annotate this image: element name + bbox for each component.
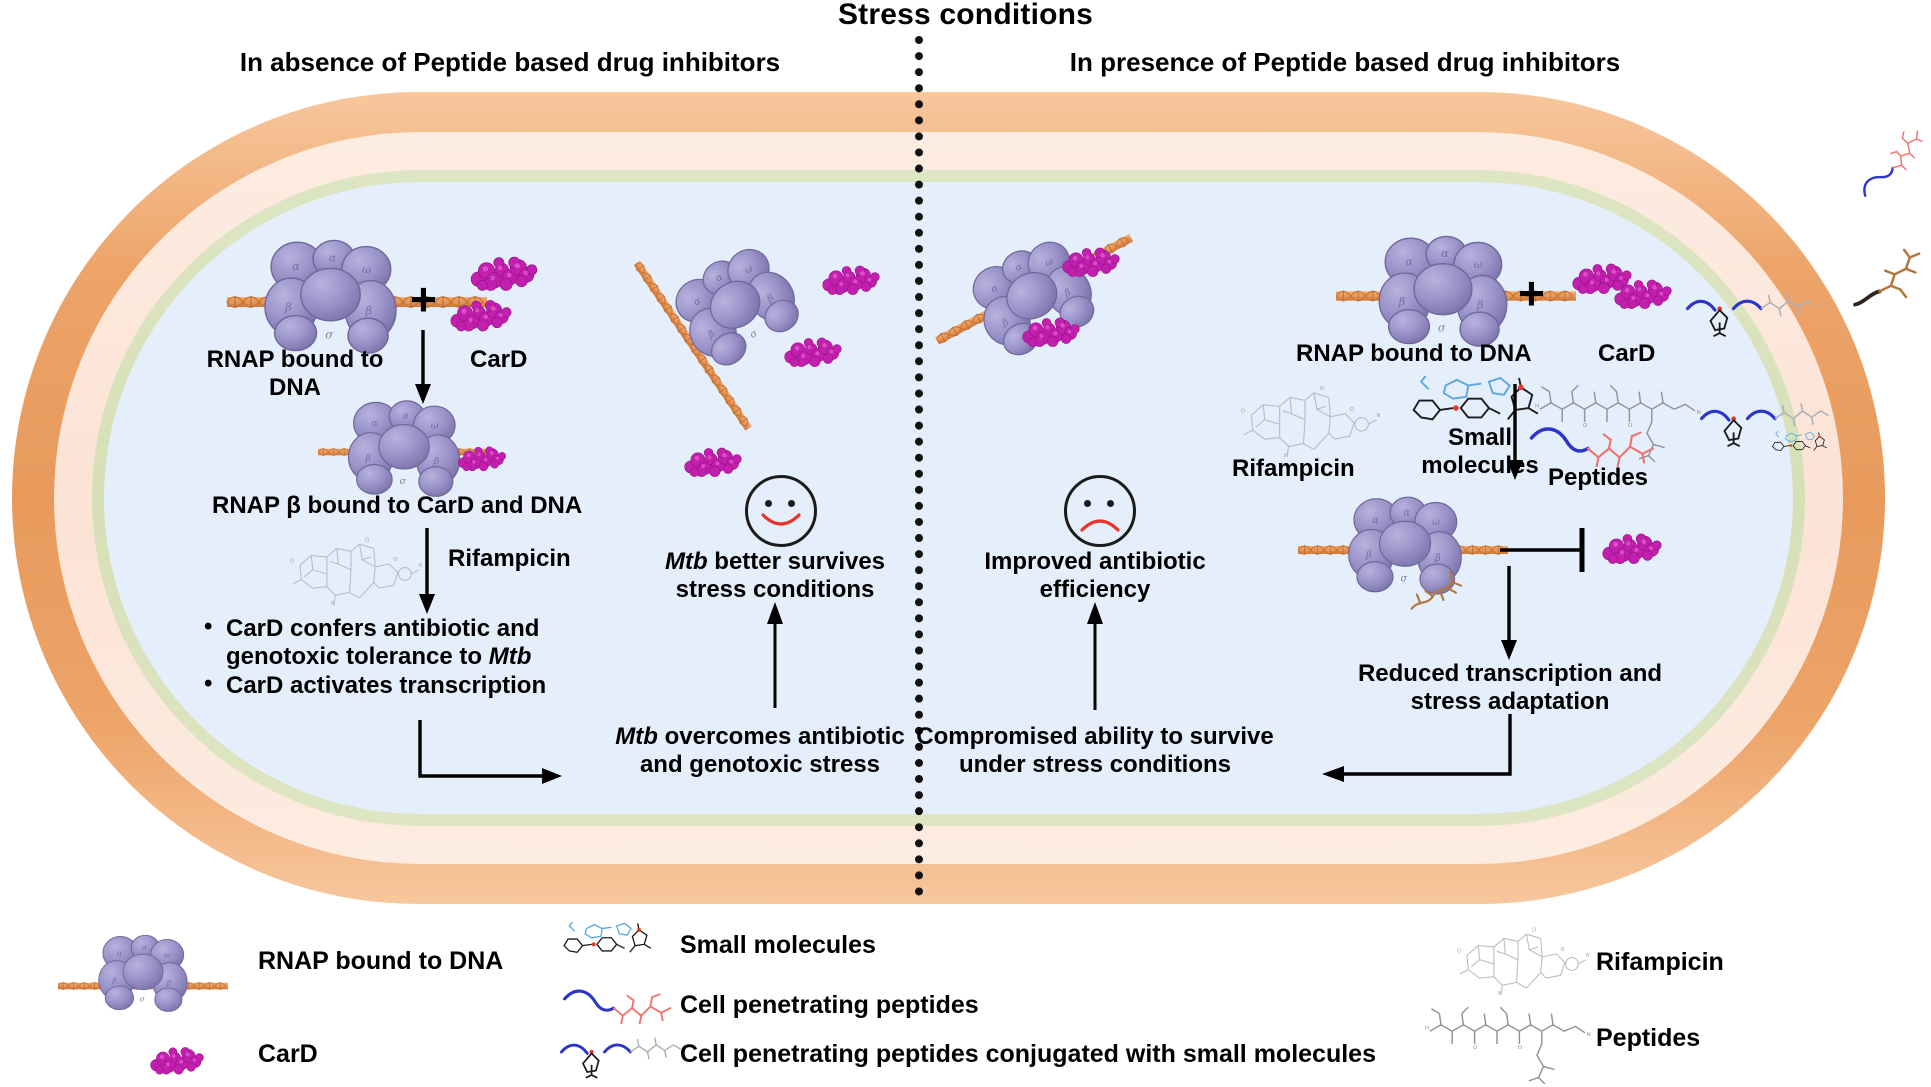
mtb-overcomes-text: Mtb overcomes antibiotic and genotoxic s… [590, 723, 930, 778]
card-protein-free [1020, 310, 1082, 360]
page-title: Stress conditions [0, 0, 1931, 32]
compromised-ability-text: Compromised ability to survive under str… [910, 723, 1280, 778]
card-protein [1612, 272, 1674, 322]
rnap-dna-label-right: RNAP bound to DNA [1296, 340, 1532, 368]
arrow-down-rifampicin [412, 528, 442, 616]
outcome-item-2: CarD activates transcription [200, 672, 600, 700]
rifampicin-molecule-icon [1230, 378, 1380, 460]
arrow-up-left [760, 600, 790, 708]
legend-label-cell-penetrating-peptides: Cell penetrating peptides [680, 991, 979, 1020]
card-label-right: CarD [1598, 340, 1655, 368]
legend-rnap-icon [84, 928, 202, 1017]
legend-cpp-icon [560, 982, 678, 1028]
arrow-up-right [1080, 600, 1110, 710]
rnap-polymerase [243, 230, 418, 361]
reduced-transcription-text: Reduced transcription and stress adaptat… [1340, 660, 1680, 715]
legend-label-rnap-bound-to-dna: RNAP bound to DNA [258, 947, 503, 976]
right-panel-title: In presence of Peptide based drug inhibi… [935, 47, 1755, 78]
card-protein-blocked [1600, 526, 1664, 577]
improved-antibiotic-text: Improved antibiotic efficiency [930, 548, 1260, 603]
arrow-down-right-combine [1500, 384, 1530, 482]
left-outcomes-list: CarD confers antibiotic and genotoxic to… [200, 615, 600, 702]
legend-small-molecules-icon [560, 922, 672, 968]
cell-penetrating-peptide-icon [1848, 140, 1931, 186]
legend-card-icon [148, 1040, 206, 1087]
legend-rifampicin-icon [1444, 920, 1592, 998]
rnap-polymerase [1358, 226, 1528, 354]
small-molecules-icon [1770, 430, 1840, 462]
legend-cpp-conjugated-icon [560, 1032, 682, 1082]
peptide-outside-icon [1850, 248, 1928, 314]
bound-peptide-icon [1408, 566, 1470, 616]
outcome-item-1: CarD confers antibiotic and genotoxic to… [200, 615, 600, 670]
card-protein-free [682, 440, 744, 490]
legend-label-cpp-conjugated: Cell penetrating peptides conjugated wit… [680, 1040, 1376, 1069]
happy-face-icon [745, 475, 817, 547]
arrow-elbow-left [416, 718, 566, 800]
plus-symbol-right: + [1518, 270, 1545, 316]
sad-face-icon [1064, 475, 1136, 547]
rifampicin-molecule-icon [280, 530, 422, 608]
rifampicin-label-left: Rifampicin [448, 545, 571, 573]
plus-symbol-left: + [410, 276, 437, 322]
peptides-label-right: Peptides [1548, 464, 1648, 492]
rnap-beta-complex-label: RNAP β bound to CarD and DNA [212, 492, 582, 520]
card-protein [448, 292, 514, 345]
card-protein-free [820, 258, 882, 308]
card-label-left: CarD [470, 346, 527, 374]
card-protein-bound [456, 440, 508, 483]
legend-peptide-icon [1424, 1004, 1594, 1084]
rifampicin-label-right: Rifampicin [1232, 455, 1355, 483]
cpp-conjugated-icon [1686, 288, 1816, 340]
arrow-elbow-right [1320, 712, 1520, 794]
mtb-survives-text: Mtb better survives stress conditions [610, 548, 940, 603]
left-panel-title: In absence of Peptide based drug inhibit… [100, 47, 920, 78]
arrow-down-reduced [1494, 566, 1524, 662]
legend-label-small-molecules: Small molecules [680, 931, 876, 960]
card-protein-free [1060, 240, 1122, 290]
legend-label-peptides: Peptides [1596, 1024, 1700, 1053]
legend-label-card: CarD [258, 1040, 318, 1069]
legend-label-rifampicin: Rifampicin [1596, 948, 1724, 977]
card-protein-free [782, 330, 844, 380]
